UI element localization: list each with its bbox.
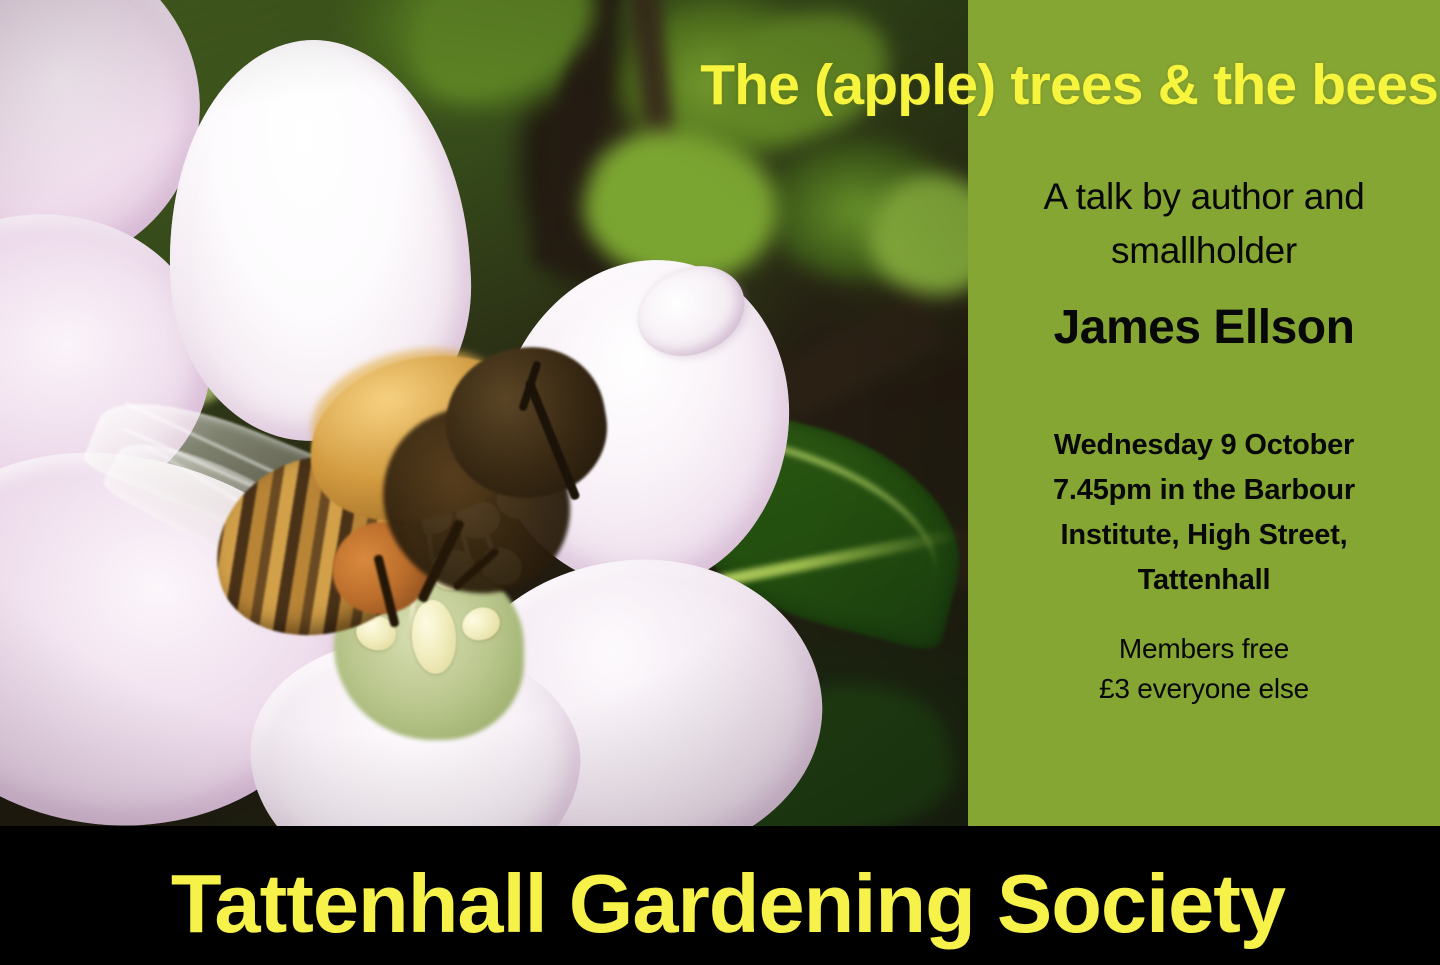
talk-subtitle-line-2: smallholder [994,224,1414,278]
info-panel-content: A talk by author and smallholder James E… [968,170,1440,710]
talk-subtitle-line-1: A talk by author and [994,170,1414,224]
poster-title: The (apple) trees & the bees [0,52,1440,118]
event-detail-line: Tattenhall [994,558,1414,603]
event-details: Wednesday 9 October 7.45pm in the Barbou… [994,423,1414,603]
info-panel: A talk by author and smallholder James E… [968,0,1440,826]
organisation-banner: Tattenhall Gardening Society [16,826,1440,965]
pricing-info: Members free £3 everyone else [994,629,1414,710]
speaker-name: James Ellson [994,299,1414,357]
bee [96,330,536,690]
poster: A talk by author and smallholder James E… [0,0,1440,965]
pricing-line-guests: £3 everyone else [994,669,1414,710]
blossom-bee-photo [0,0,968,826]
talk-subtitle: A talk by author and smallholder [994,170,1414,277]
event-detail-line: 7.45pm in the Barbour [994,468,1414,513]
organisation-name: Tattenhall Gardening Society [16,862,1440,945]
pricing-line-members: Members free [994,629,1414,670]
event-detail-line: Institute, High Street, [994,513,1414,558]
event-detail-line: Wednesday 9 October [994,423,1414,468]
